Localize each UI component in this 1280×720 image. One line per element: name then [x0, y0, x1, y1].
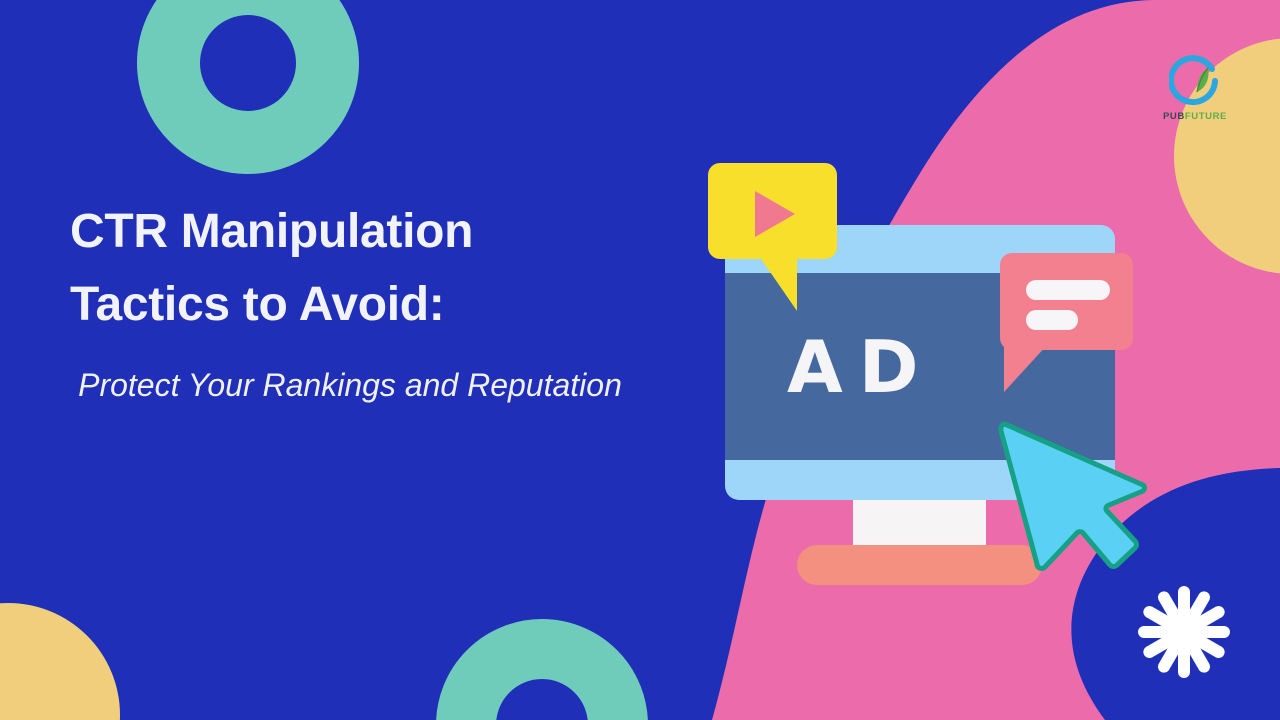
message-line-2 [1026, 310, 1078, 330]
video-bubble-tail [748, 253, 797, 311]
message-speech-bubble [1000, 253, 1133, 378]
poster-canvas: CTR Manipulation Tactics to Avoid: Prote… [0, 0, 1280, 720]
message-line-1 [1026, 280, 1110, 300]
pubfuture-logo: PUBFUTURE [1155, 55, 1235, 137]
logo-text-prefix: PUB [1163, 111, 1185, 122]
pubfuture-logo-mark [1169, 55, 1221, 107]
pubfuture-logo-wordmark: PUBFUTURE [1155, 111, 1235, 122]
message-bubble-body [1000, 253, 1133, 350]
text-block: CTR Manipulation Tactics to Avoid: Prote… [70, 196, 630, 407]
monitor-stand-neck [853, 500, 986, 550]
page-title: CTR Manipulation Tactics to Avoid: [70, 196, 630, 342]
video-speech-bubble [708, 163, 837, 272]
play-icon [755, 191, 795, 237]
logo-text-suffix: FUTURE [1185, 111, 1227, 122]
page-subtitle: Protect Your Rankings and Reputation [70, 364, 630, 407]
message-bubble-tail [1004, 344, 1058, 392]
cursor-arrow-icon [995, 415, 1155, 575]
ad-monitor-illustration: AD [700, 155, 1150, 585]
starburst-icon [1130, 578, 1238, 686]
